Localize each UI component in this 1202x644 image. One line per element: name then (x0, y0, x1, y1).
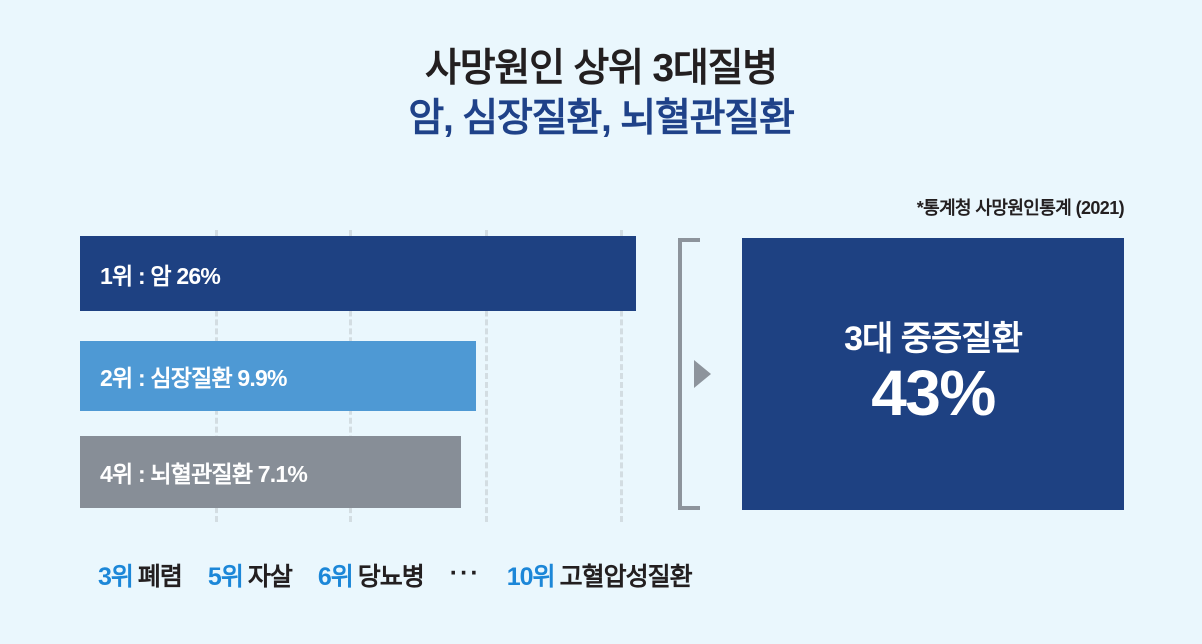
legend-name: 폐렴 (138, 557, 182, 593)
legend-rank: 3위 (98, 557, 133, 593)
source-note: *통계청 사망원인통계 (2021) (917, 194, 1124, 220)
bar-chart: 1위 : 암 26% 2위 : 심장질환 9.9% 4위 : 뇌혈관질환 7.1… (80, 236, 636, 508)
legend-rank: 6위 (318, 557, 353, 593)
title-line-secondary: 암, 심장질환, 뇌혈관질환 (0, 94, 1202, 144)
legend-item: 5위 자살 (208, 557, 292, 593)
legend-rank: 5위 (208, 557, 243, 593)
bar-label: 2위 : 심장질환 9.9% (80, 359, 287, 393)
highlight-value: 43% (871, 360, 995, 427)
legend-rank: 10위 (507, 557, 555, 593)
legend-name: 고혈압성질환 (560, 557, 692, 593)
bar-label: 1위 : 암 26% (80, 257, 220, 291)
legend-item: 10위 고혈압성질환 (507, 557, 692, 593)
bar-rank-1: 1위 : 암 26% (80, 236, 636, 311)
bar-label: 4위 : 뇌혈관질환 7.1% (80, 455, 307, 489)
bar-rank-4: 4위 : 뇌혈관질환 7.1% (80, 436, 461, 508)
legend-name: 자살 (248, 557, 292, 593)
legend: 3위 폐렴 5위 자살 6위 당뇨병 ··· 10위 고혈압성질환 (98, 557, 718, 593)
infographic-canvas: 사망원인 상위 3대질병 암, 심장질환, 뇌혈관질환 *통계청 사망원인통계 … (0, 0, 1202, 644)
legend-ellipsis: ··· (450, 559, 481, 588)
legend-name: 당뇨병 (358, 557, 424, 593)
page-title: 사망원인 상위 3대질병 암, 심장질환, 뇌혈관질환 (0, 44, 1202, 144)
legend-item: 3위 폐렴 (98, 557, 182, 593)
arrow-right-icon (694, 360, 711, 388)
highlight-panel: 3대 중증질환 43% (742, 238, 1124, 510)
highlight-label: 3대 중증질환 (844, 321, 1022, 358)
title-line-primary: 사망원인 상위 3대질병 (0, 44, 1202, 94)
legend-item: 6위 당뇨병 (318, 557, 424, 593)
bar-rank-2: 2위 : 심장질환 9.9% (80, 341, 476, 411)
